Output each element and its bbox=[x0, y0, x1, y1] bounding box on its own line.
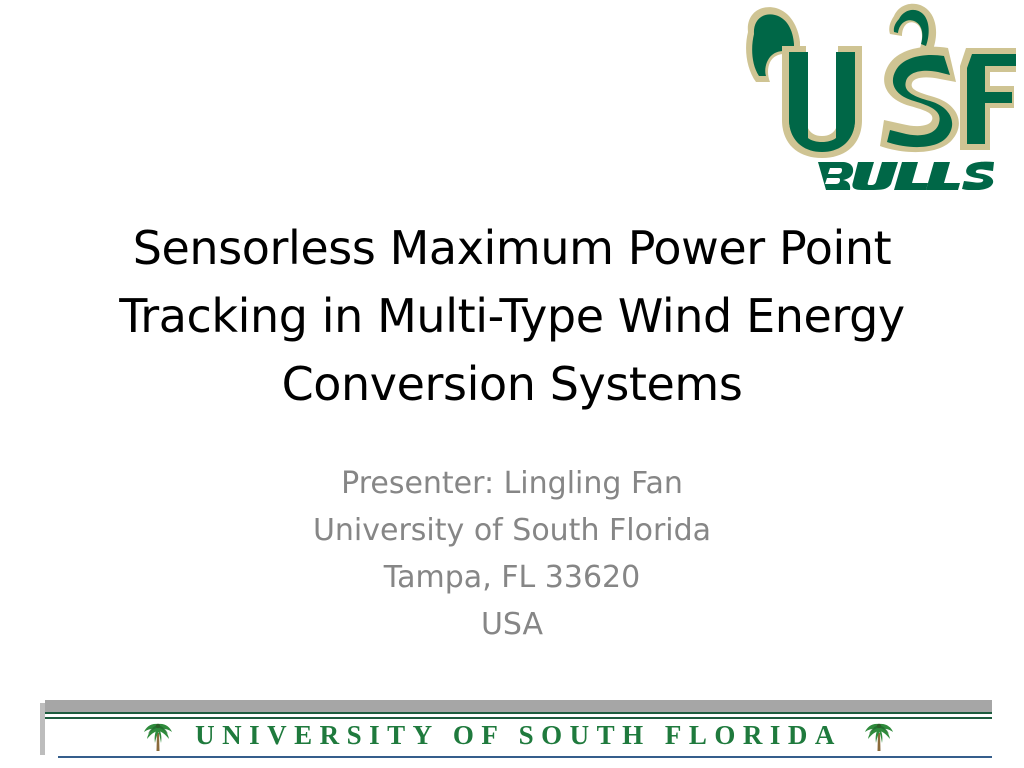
subtitle-city: Tampa, FL 33620 bbox=[192, 554, 832, 601]
footer-title-text: UNIVERSITY OF SOUTH FLORIDA bbox=[195, 722, 842, 749]
subtitle-country: USA bbox=[192, 601, 832, 648]
palm-tree-icon bbox=[143, 717, 173, 753]
title-slide: Sensorless Maximum Power Point Tracking … bbox=[0, 0, 1024, 768]
page-title: Sensorless Maximum Power Point Tracking … bbox=[96, 214, 928, 418]
palm-tree-icon bbox=[864, 717, 894, 753]
footer-bottom-rule bbox=[58, 756, 992, 758]
subtitle: Presenter: Lingling Fan University of So… bbox=[192, 460, 832, 648]
footer-content: UNIVERSITY OF SOUTH FLORIDA bbox=[45, 714, 992, 756]
title-line-2: Tracking in Multi-Type Wind Energy bbox=[96, 282, 928, 350]
usf-bulls-logo bbox=[742, 2, 1016, 190]
bulls-wordmark bbox=[818, 162, 994, 190]
usf-logo-artwork bbox=[746, 4, 1016, 190]
footer-gray-bar bbox=[45, 700, 992, 712]
title-line-1: Sensorless Maximum Power Point bbox=[96, 214, 928, 282]
title-line-3: Conversion Systems bbox=[96, 350, 928, 418]
subtitle-affiliation: University of South Florida bbox=[192, 507, 832, 554]
subtitle-presenter: Presenter: Lingling Fan bbox=[192, 460, 832, 507]
footer-banner: UNIVERSITY OF SOUTH FLORIDA bbox=[40, 700, 992, 758]
